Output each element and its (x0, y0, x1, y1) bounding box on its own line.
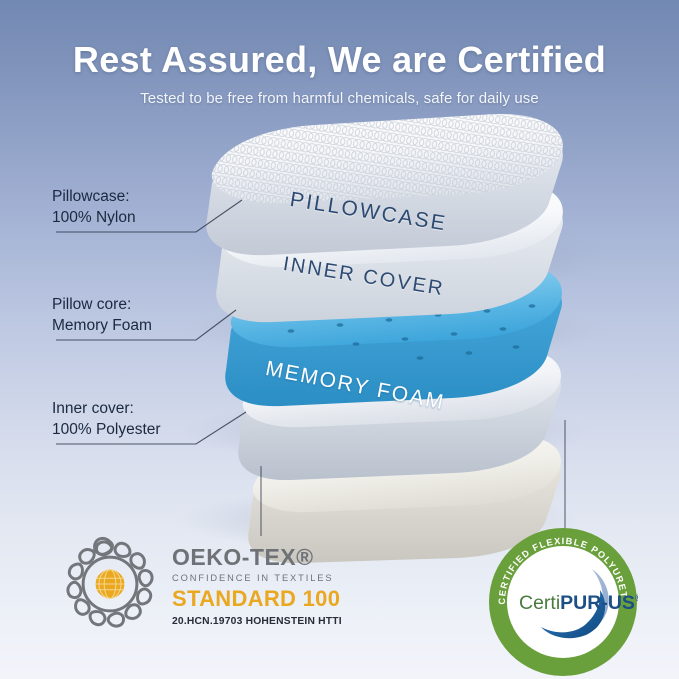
oeko-tex-certificate-code: 20.HCN.19703 HOHENSTEIN HTTI (172, 616, 342, 627)
callout-pillowcase-line1: Pillowcase: (52, 186, 136, 207)
certipur-us-seal-icon: CONTAINS CERTIFIED FLEXIBLE POLYURETHANE… (488, 527, 638, 677)
callout-inner-cover-line1: Inner cover: (52, 398, 161, 419)
callout-inner-cover: Inner cover: 100% Polyester (52, 398, 161, 441)
oeko-tex-tagline: CONFIDENCE IN TEXTILES (172, 573, 342, 583)
certipur-us-badge: CONTAINS CERTIFIED FLEXIBLE POLYURETHANE… (488, 527, 638, 677)
product-infographic: Rest Assured, We are Certified Tested to… (0, 0, 679, 679)
callout-pillow-core: Pillow core: Memory Foam (52, 294, 152, 337)
oeko-tex-knot-icon (62, 536, 158, 632)
oeko-tex-standard: STANDARD 100 (172, 586, 342, 612)
oeko-tex-brand: OEKO-TEX® (172, 546, 342, 569)
certipur-wordmark: CertiPUR-US® (519, 592, 638, 614)
callout-pillow-core-line1: Pillow core: (52, 294, 152, 315)
callout-inner-cover-line2: 100% Polyester (52, 419, 161, 440)
callout-pillow-core-line2: Memory Foam (52, 315, 152, 336)
oeko-tex-text-block: OEKO-TEX® CONFIDENCE IN TEXTILES STANDAR… (172, 542, 342, 627)
pillow-layer-pillowcase (206, 114, 563, 255)
callout-pillowcase: Pillowcase: 100% Nylon (52, 186, 136, 229)
oeko-tex-globe-icon (96, 570, 125, 599)
oeko-tex-badge: OEKO-TEX® CONFIDENCE IN TEXTILES STANDAR… (62, 536, 342, 632)
callout-pillowcase-line2: 100% Nylon (52, 207, 136, 228)
